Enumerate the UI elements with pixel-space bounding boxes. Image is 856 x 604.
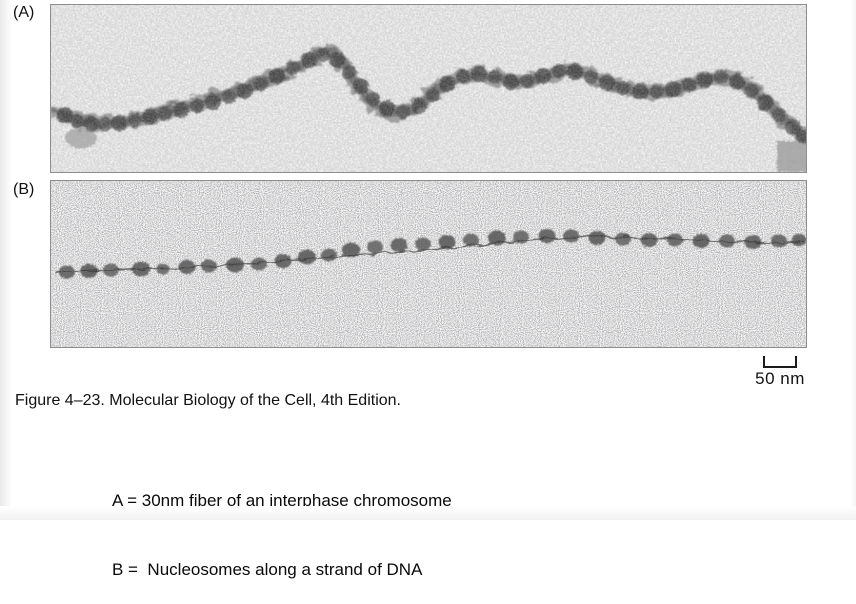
legend-line-b: B = Nucleosomes along a strand of DNA xyxy=(112,558,452,581)
panel-label-b: (B) xyxy=(13,181,34,199)
panel-label-a: (A) xyxy=(13,4,34,22)
figure-caption: Figure 4–23. Molecular Biology of the Ce… xyxy=(15,392,401,410)
panel-b-micrograph xyxy=(50,180,807,348)
page-right-edge-shadow xyxy=(850,0,856,520)
legend-block: A = 30nm fiber of an interphase chromoso… xyxy=(112,443,452,604)
scale-bar-bracket-icon xyxy=(763,356,797,368)
page-bottom-edge-shadow xyxy=(0,506,856,520)
scale-bar: 50 nm xyxy=(736,352,824,389)
panel-a-micrograph xyxy=(50,4,807,173)
scale-bar-label: 50 nm xyxy=(736,369,824,389)
page-left-edge-shadow xyxy=(0,0,11,520)
